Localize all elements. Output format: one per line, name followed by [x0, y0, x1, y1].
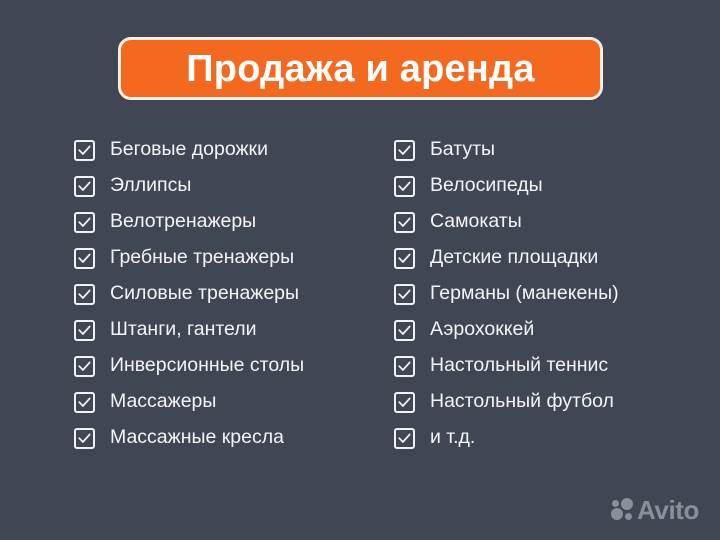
checkbox-checked-icon[interactable]: [74, 320, 95, 341]
list-item-label: Массажеры: [110, 392, 216, 412]
checkbox-checked-icon[interactable]: [394, 356, 415, 377]
list-item-label: Гребные тренажеры: [110, 248, 294, 268]
banner-sale-and-rent: Продажа и аренда: [118, 37, 603, 100]
checkbox-checked-icon[interactable]: [394, 248, 415, 269]
list-item-label: Инверсионные столы: [110, 356, 304, 376]
checkbox-checked-icon[interactable]: [394, 212, 415, 233]
list-item[interactable]: Массажеры: [74, 384, 304, 420]
list-item[interactable]: Велосипеды: [394, 168, 619, 204]
list-item-label: Батуты: [430, 140, 495, 160]
checkbox-checked-icon[interactable]: [74, 392, 95, 413]
checklist-column-left: Беговые дорожкиЭллипсыВелотренажерыГребн…: [74, 132, 304, 456]
list-item[interactable]: Настольный теннис: [394, 348, 619, 384]
avito-logo-icon: [611, 498, 636, 522]
list-item-label: Велотренажеры: [110, 212, 256, 232]
banner-title: Продажа и аренда: [186, 50, 534, 88]
list-item[interactable]: Велотренажеры: [74, 204, 304, 240]
list-item[interactable]: Детские площадки: [394, 240, 619, 276]
list-item[interactable]: Беговые дорожки: [74, 132, 304, 168]
checkbox-checked-icon[interactable]: [394, 140, 415, 161]
checkbox-checked-icon[interactable]: [394, 392, 415, 413]
list-item-label: Самокаты: [430, 212, 522, 232]
list-item-label: Велосипеды: [430, 176, 543, 196]
list-item-label: Штанги, гантели: [110, 320, 257, 340]
list-item[interactable]: Германы (манекены): [394, 276, 619, 312]
list-item[interactable]: Батуты: [394, 132, 619, 168]
avito-watermark: Avito: [611, 497, 699, 523]
list-item[interactable]: Массажные кресла: [74, 420, 304, 456]
checkbox-checked-icon[interactable]: [74, 428, 95, 449]
avito-wordmark: Avito: [637, 497, 699, 523]
list-item[interactable]: Гребные тренажеры: [74, 240, 304, 276]
slide-canvas: Продажа и аренда Беговые дорожкиЭллипсыВ…: [0, 0, 720, 540]
checkbox-checked-icon[interactable]: [74, 248, 95, 269]
checkbox-checked-icon[interactable]: [394, 176, 415, 197]
list-item[interactable]: Самокаты: [394, 204, 619, 240]
list-item[interactable]: Силовые тренажеры: [74, 276, 304, 312]
checkbox-checked-icon[interactable]: [74, 212, 95, 233]
list-item-label: Аэрохоккей: [430, 320, 534, 340]
list-item[interactable]: Аэрохоккей: [394, 312, 619, 348]
list-item-label: Эллипсы: [110, 176, 191, 196]
list-item-label: Силовые тренажеры: [110, 284, 299, 304]
list-item[interactable]: и т.д.: [394, 420, 619, 456]
list-item-label: Настольный футбол: [430, 392, 614, 412]
list-item-label: Беговые дорожки: [110, 140, 268, 160]
list-item-label: и т.д.: [430, 428, 475, 448]
list-item-label: Массажные кресла: [110, 428, 284, 448]
list-item-label: Германы (манекены): [430, 284, 619, 304]
checkbox-checked-icon[interactable]: [74, 140, 95, 161]
list-item-label: Детские площадки: [430, 248, 598, 268]
checkbox-checked-icon[interactable]: [74, 284, 95, 305]
checkbox-checked-icon[interactable]: [394, 284, 415, 305]
checkbox-checked-icon[interactable]: [74, 176, 95, 197]
list-item[interactable]: Настольный футбол: [394, 384, 619, 420]
checkbox-checked-icon[interactable]: [74, 356, 95, 377]
list-item-label: Настольный теннис: [430, 356, 608, 376]
list-item[interactable]: Эллипсы: [74, 168, 304, 204]
checkbox-checked-icon[interactable]: [394, 428, 415, 449]
checklist-column-right: БатутыВелосипедыСамокатыДетские площадки…: [394, 132, 619, 456]
list-item[interactable]: Инверсионные столы: [74, 348, 304, 384]
checkbox-checked-icon[interactable]: [394, 320, 415, 341]
list-item[interactable]: Штанги, гантели: [74, 312, 304, 348]
